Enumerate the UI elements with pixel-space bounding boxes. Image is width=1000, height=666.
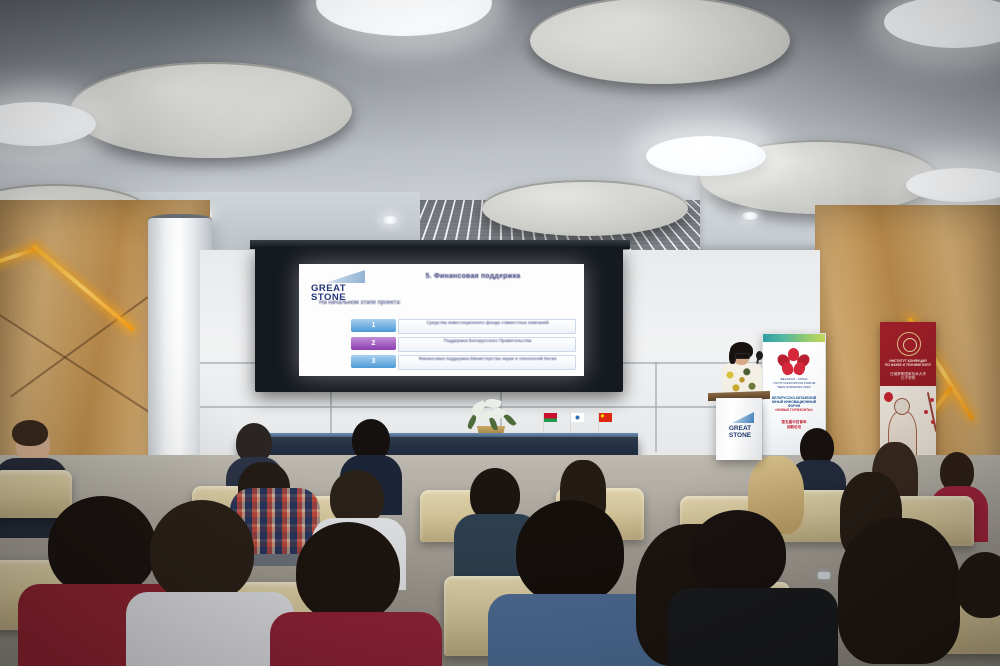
step-text-2: Поддержка Белорусского Правительства [405, 337, 570, 350]
slide-subtitle: На начальном этапе проекта: [319, 300, 499, 306]
slide-title: 5. Финансовая поддержка [383, 273, 563, 280]
flag-cloth-china [599, 413, 612, 422]
blossom-icon [931, 420, 935, 424]
step-number-2: 2 [351, 337, 396, 350]
banner-color-band [763, 334, 825, 342]
torso [668, 588, 838, 666]
recessed-downlight-4 [742, 212, 758, 220]
torso [270, 612, 442, 666]
hair [12, 420, 48, 446]
podium-logo-line-1: GREAT [725, 425, 755, 432]
acoustic-disc-2 [530, 0, 790, 84]
lantern-icon [884, 392, 893, 402]
hair [838, 518, 960, 664]
led-accent-strip-1 [0, 247, 37, 266]
slide-step-row-2: 2 Поддержка Белорусского Правительства [351, 337, 576, 353]
presentation-slide: GREAT STONE 5. Финансовая поддержка На н… [299, 264, 584, 376]
ceiling-light-4 [646, 136, 766, 176]
slide-step-row-3: 3 Финансовая поддержка Министерства наук… [351, 355, 576, 371]
podium: GREAT STONE [716, 398, 762, 460]
blossom-icon [930, 398, 934, 402]
microphone-icon [756, 351, 763, 360]
red-flower-emblem-icon [777, 348, 811, 374]
smartphone[interactable] [818, 572, 830, 579]
banner-russian-text: БЕЛОРУССКО-КИТАЙСКИЙ ЮНЫЙ ИННОВАЦИОННЫЙ … [766, 396, 822, 412]
head [690, 510, 786, 596]
slide-step-row-1: 1 Средства инвестиционного фонда совмест… [351, 319, 576, 335]
seat [0, 470, 72, 518]
wall-seam-2 [10, 296, 149, 398]
banner-english-text: BELARUS - CHINA YOUTH INNOVATION FORUM "… [766, 378, 822, 389]
great-stone-wedge-icon [325, 270, 365, 283]
great-stone-wedge-icon [732, 412, 754, 423]
torso [126, 592, 294, 666]
speaker-glasses [735, 353, 750, 359]
acoustic-disc-4 [482, 180, 688, 236]
blossom-icon [924, 410, 928, 414]
step-text-1: Средства инвестиционного фонда совместны… [405, 319, 570, 332]
step-number-3: 3 [351, 355, 396, 368]
step-number-1: 1 [351, 319, 396, 332]
confucius-russian-text: ИНСТИТУТ КОНФУЦИЯ ПО НАУКЕ И ТЕХНИКЕ БНТ… [882, 359, 934, 367]
wall-panel-seam-e [655, 362, 657, 452]
podium-logo-line-2: STONE [725, 432, 755, 439]
confucius-head [894, 398, 910, 415]
step-text-3: Финансовая поддержка Министерства науки … [405, 355, 570, 368]
foliage-1 [466, 414, 479, 429]
head [48, 496, 156, 596]
foliage-2 [503, 413, 516, 428]
acoustic-disc-1 [70, 62, 352, 158]
recessed-downlight-3 [382, 216, 398, 224]
led-accent-strip-2 [31, 244, 135, 332]
flag-cloth-belarus [544, 413, 557, 422]
confucius-chinese-text: 白俄罗斯国家技术大学 孔子学院 [882, 372, 934, 381]
head [150, 500, 254, 602]
head [516, 500, 624, 604]
head [956, 552, 1000, 618]
confucius-institute-seal-icon [897, 332, 921, 356]
head [296, 522, 400, 622]
podium-great-stone-logo: GREAT STONE [725, 412, 755, 442]
great-stone-logo: GREAT STONE [311, 270, 365, 302]
conference-hall-photo: GREAT STONE 5. Финансовая поддержка На н… [0, 0, 1000, 666]
flag-cloth-institution [571, 413, 584, 422]
projection-screen: GREAT STONE 5. Финансовая поддержка На н… [255, 247, 623, 392]
